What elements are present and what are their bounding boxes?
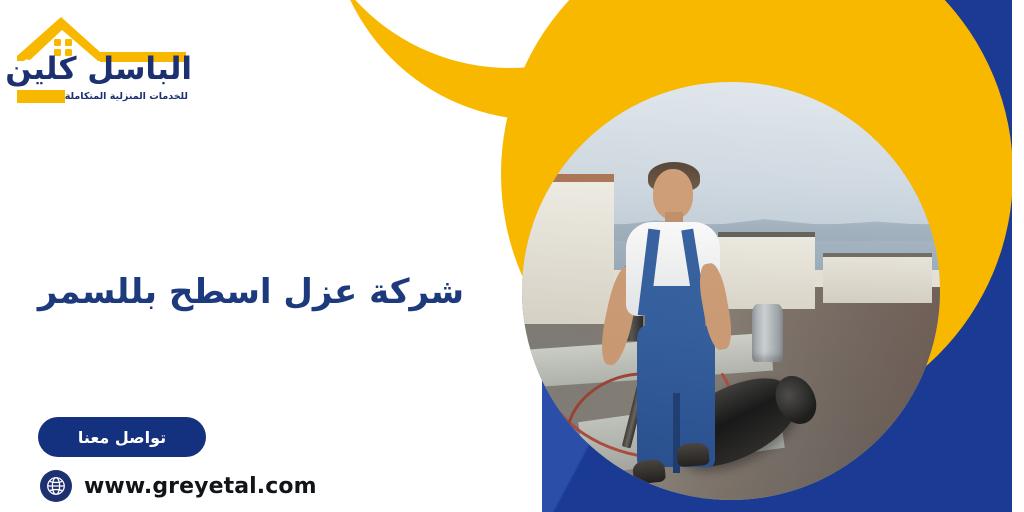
- worker-right-shoe: [676, 442, 709, 468]
- photo-roof-hut-2: [823, 253, 932, 303]
- hero-photo: [522, 82, 940, 500]
- tagline-accent-bar: [17, 90, 65, 103]
- promo-banner: الباسل كلين للخدمات المنزلية المتكاملة ش…: [0, 0, 1024, 512]
- photo-worker: [593, 166, 760, 500]
- right-white-margin: [1012, 0, 1024, 512]
- contact-us-button[interactable]: تواصل معنا: [38, 417, 206, 457]
- brand-name: الباسل كلين: [16, 54, 192, 85]
- brand-logo[interactable]: الباسل كلين للخدمات المنزلية المتكاملة: [8, 8, 198, 108]
- website-url[interactable]: www.greyetal.com: [84, 474, 317, 499]
- globe-icon: [40, 470, 72, 502]
- brand-tagline-row: للخدمات المنزلية المتكاملة: [40, 88, 190, 104]
- brand-tagline: للخدمات المنزلية المتكاملة: [65, 91, 190, 102]
- website-row[interactable]: www.greyetal.com: [40, 470, 317, 502]
- worker-left-shoe: [632, 458, 666, 485]
- page-title: شركة عزل اسطح بللسمر: [20, 271, 482, 314]
